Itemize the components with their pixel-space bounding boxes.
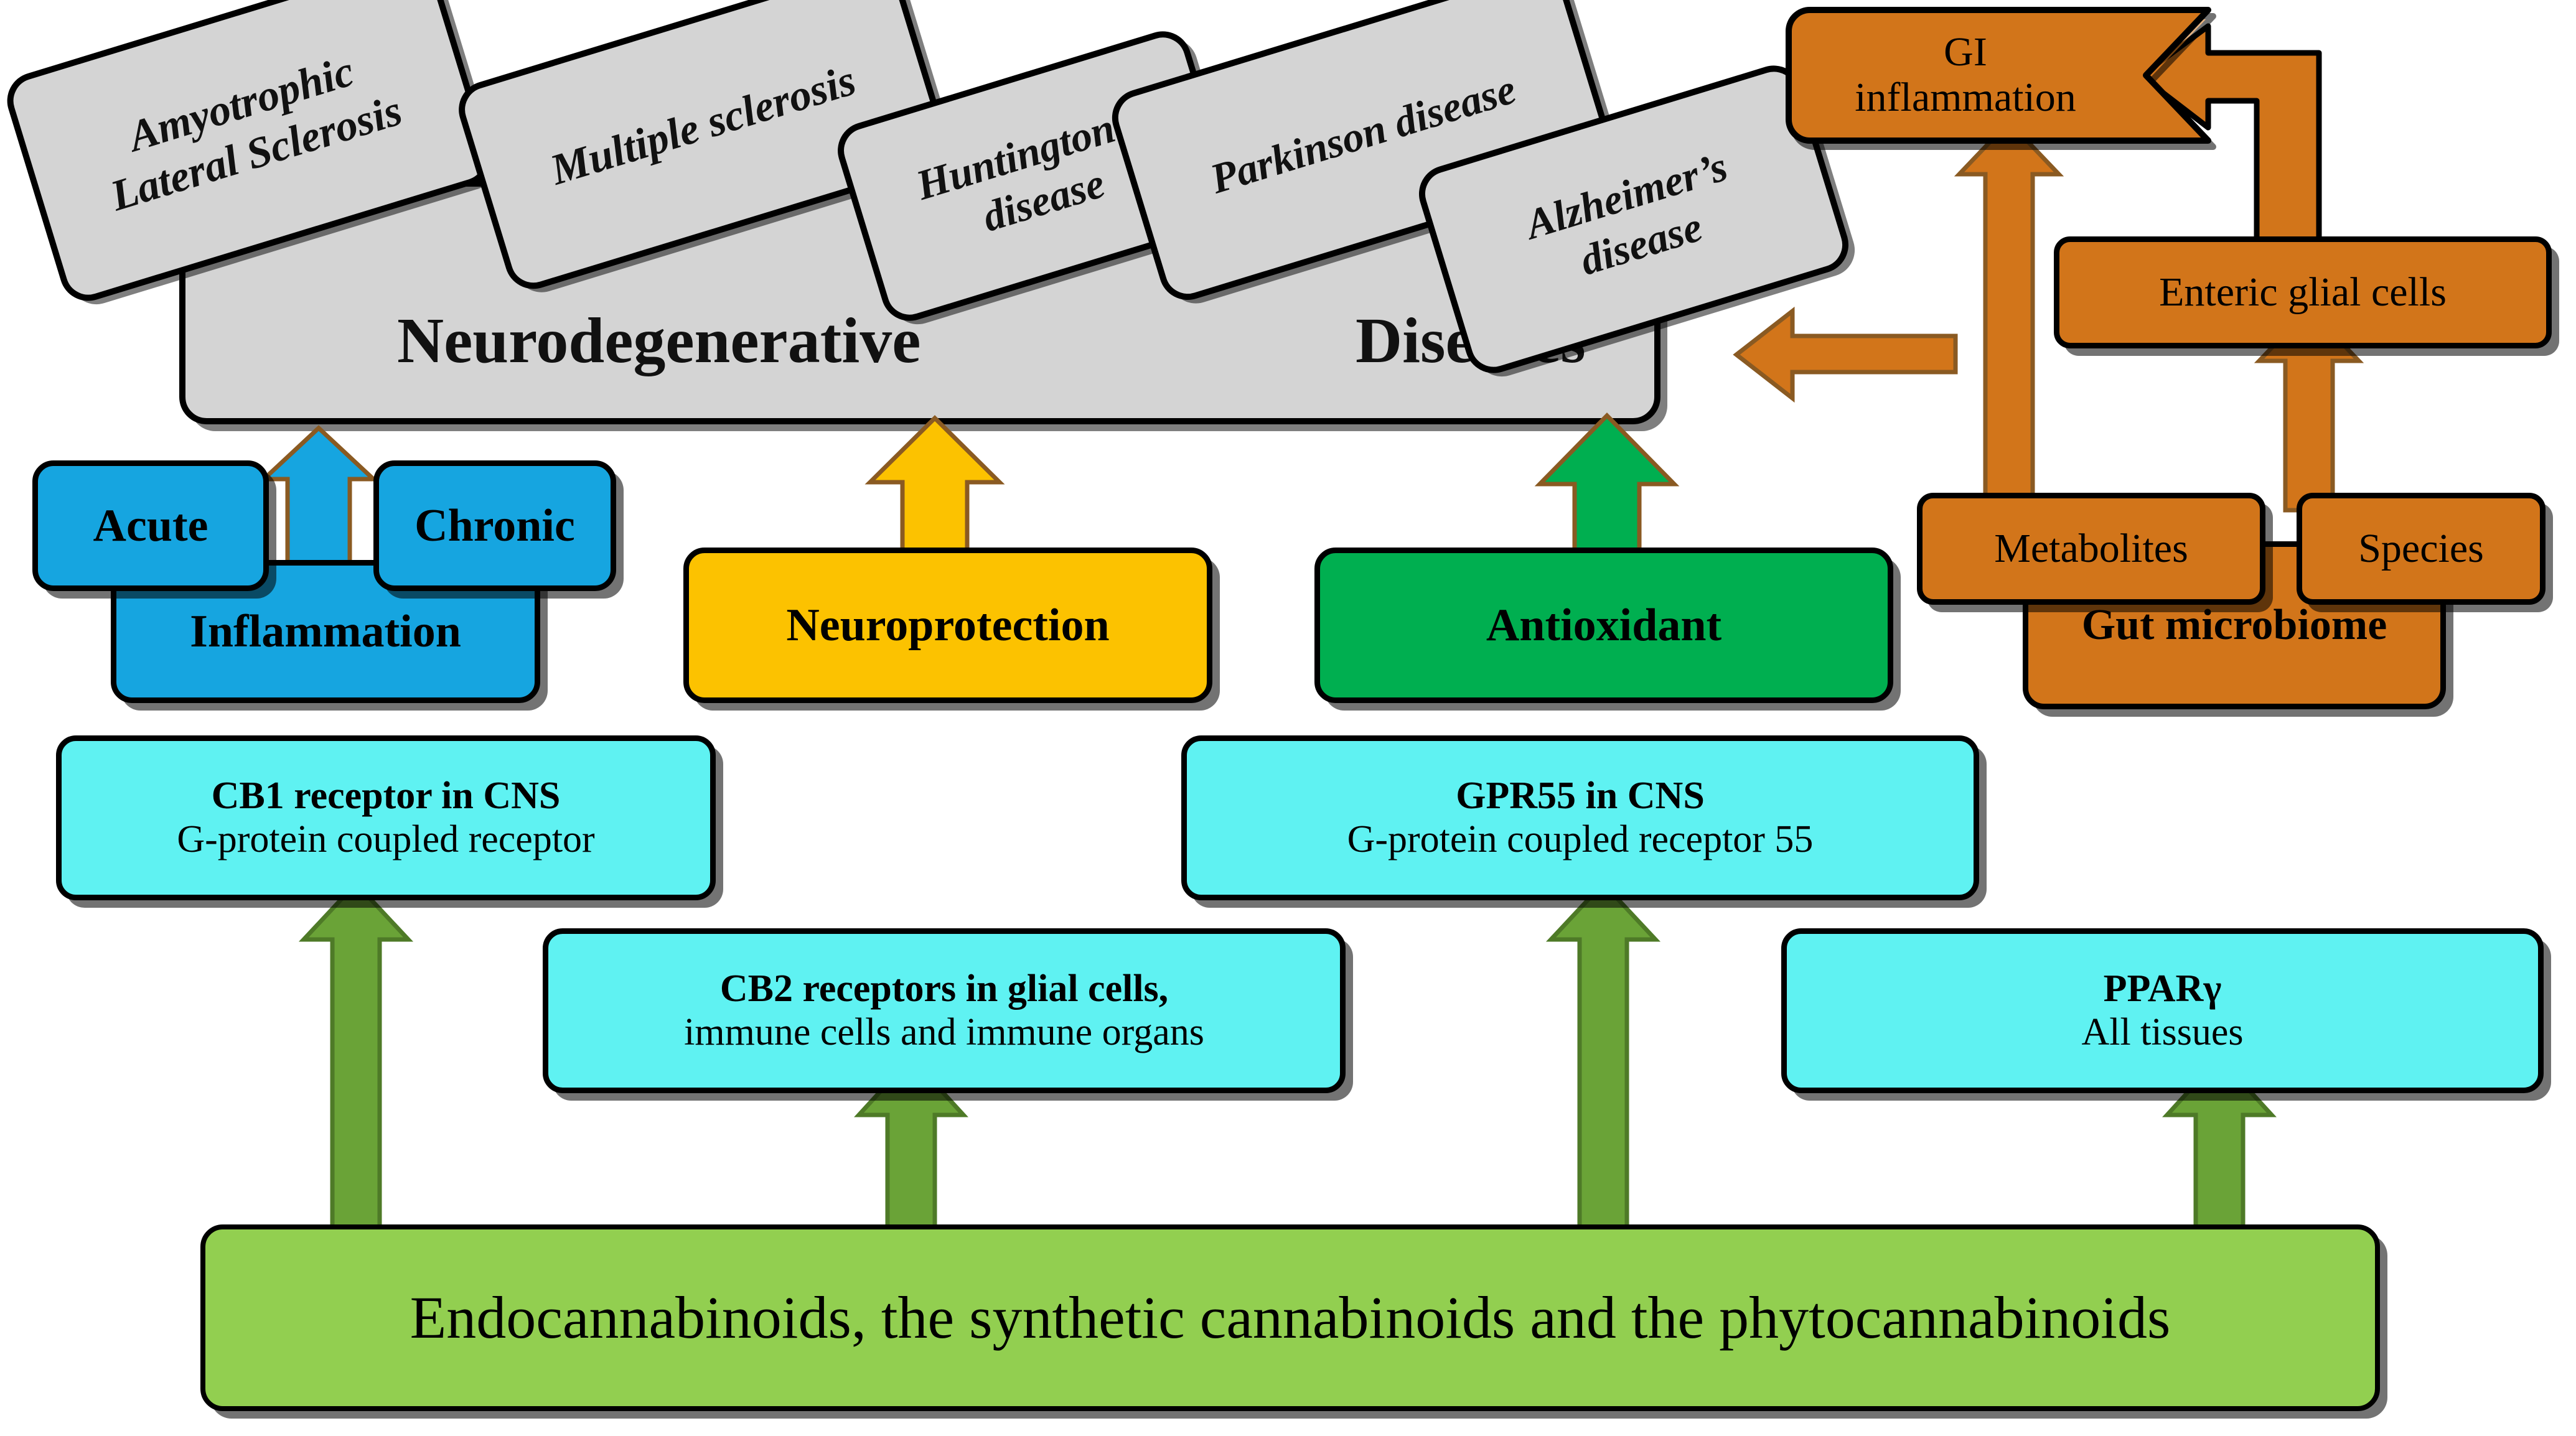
node-metabolites[interactable]: Metabolites [1917, 493, 2265, 605]
node-metabolites-label: Metabolites [1994, 526, 2188, 572]
node-gi-inflammation[interactable]: GI inflammation [1785, 4, 2221, 147]
node-gi-inflammation-line2: inflammation [1855, 75, 2076, 121]
node-chronic[interactable]: Chronic [373, 460, 616, 591]
banner-word-neurodegenerative: Neurodegenerative [397, 304, 920, 378]
node-gut-microbiome-label: Gut microbiome [2082, 601, 2387, 650]
node-ppar-line1: PPARγ [2104, 967, 2222, 1010]
node-neuroprotection-label: Neuroprotection [786, 600, 1109, 651]
node-ppar-line2: All tissues [2081, 1011, 2243, 1054]
node-acute-label: Acute [93, 500, 208, 552]
node-enteric-glial-cells[interactable]: Enteric glial cells [2054, 236, 2552, 348]
node-cb2-line1: CB2 receptors in glial cells, [720, 967, 1168, 1010]
arrow-metabolites-to-gi-inflammation [1959, 122, 2059, 510]
node-inflammation-label: Inflammation [190, 606, 461, 658]
node-cb1-line2: G-protein coupled receptor [177, 818, 594, 861]
diagram-canvas: Neurodegenerative Diseases Amyotrophic L… [0, 0, 2576, 1436]
node-species[interactable]: Species [2297, 493, 2546, 605]
node-gpr55-line2: G-protein coupled receptor 55 [1347, 818, 1814, 861]
arrow-inflammation-to-diseases [264, 428, 373, 572]
node-species-label: Species [2358, 526, 2484, 572]
node-antioxidant[interactable]: Antioxidant [1314, 548, 1893, 703]
disease-card-ms-line1: Multiple sclerosis [545, 55, 862, 197]
node-antioxidant-label: Antioxidant [1486, 600, 1721, 651]
node-ppar-gamma[interactable]: PPARγ All tissues [1781, 928, 2544, 1093]
node-gi-inflammation-line1: GI [1944, 30, 1987, 75]
node-gpr55-receptor[interactable]: GPR55 in CNS G-protein coupled receptor … [1181, 735, 1979, 900]
node-cannabinoid-source-label: Endocannabinoids, the synthetic cannabin… [410, 1284, 2171, 1351]
node-enteric-glial-cells-label: Enteric glial cells [2159, 269, 2447, 315]
node-cb1-receptor[interactable]: CB1 receptor in CNS G-protein coupled re… [56, 735, 716, 900]
arrow-source-to-cb1 [304, 884, 408, 1232]
node-chronic-label: Chronic [415, 500, 575, 552]
node-cannabinoid-source-bar[interactable]: Endocannabinoids, the synthetic cannabin… [200, 1224, 2380, 1411]
node-acute[interactable]: Acute [32, 460, 269, 591]
arrow-gut-to-diseases [1736, 311, 1955, 398]
node-cb2-line2: immune cells and immune organs [684, 1011, 1204, 1054]
node-cb2-receptor[interactable]: CB2 receptors in glial cells, immune cel… [543, 928, 1346, 1093]
node-gpr55-line1: GPR55 in CNS [1456, 775, 1705, 818]
node-cb1-line1: CB1 receptor in CNS [212, 775, 561, 818]
node-neuroprotection[interactable]: Neuroprotection [683, 548, 1212, 703]
arrow-source-to-gpr55 [1551, 884, 1656, 1232]
